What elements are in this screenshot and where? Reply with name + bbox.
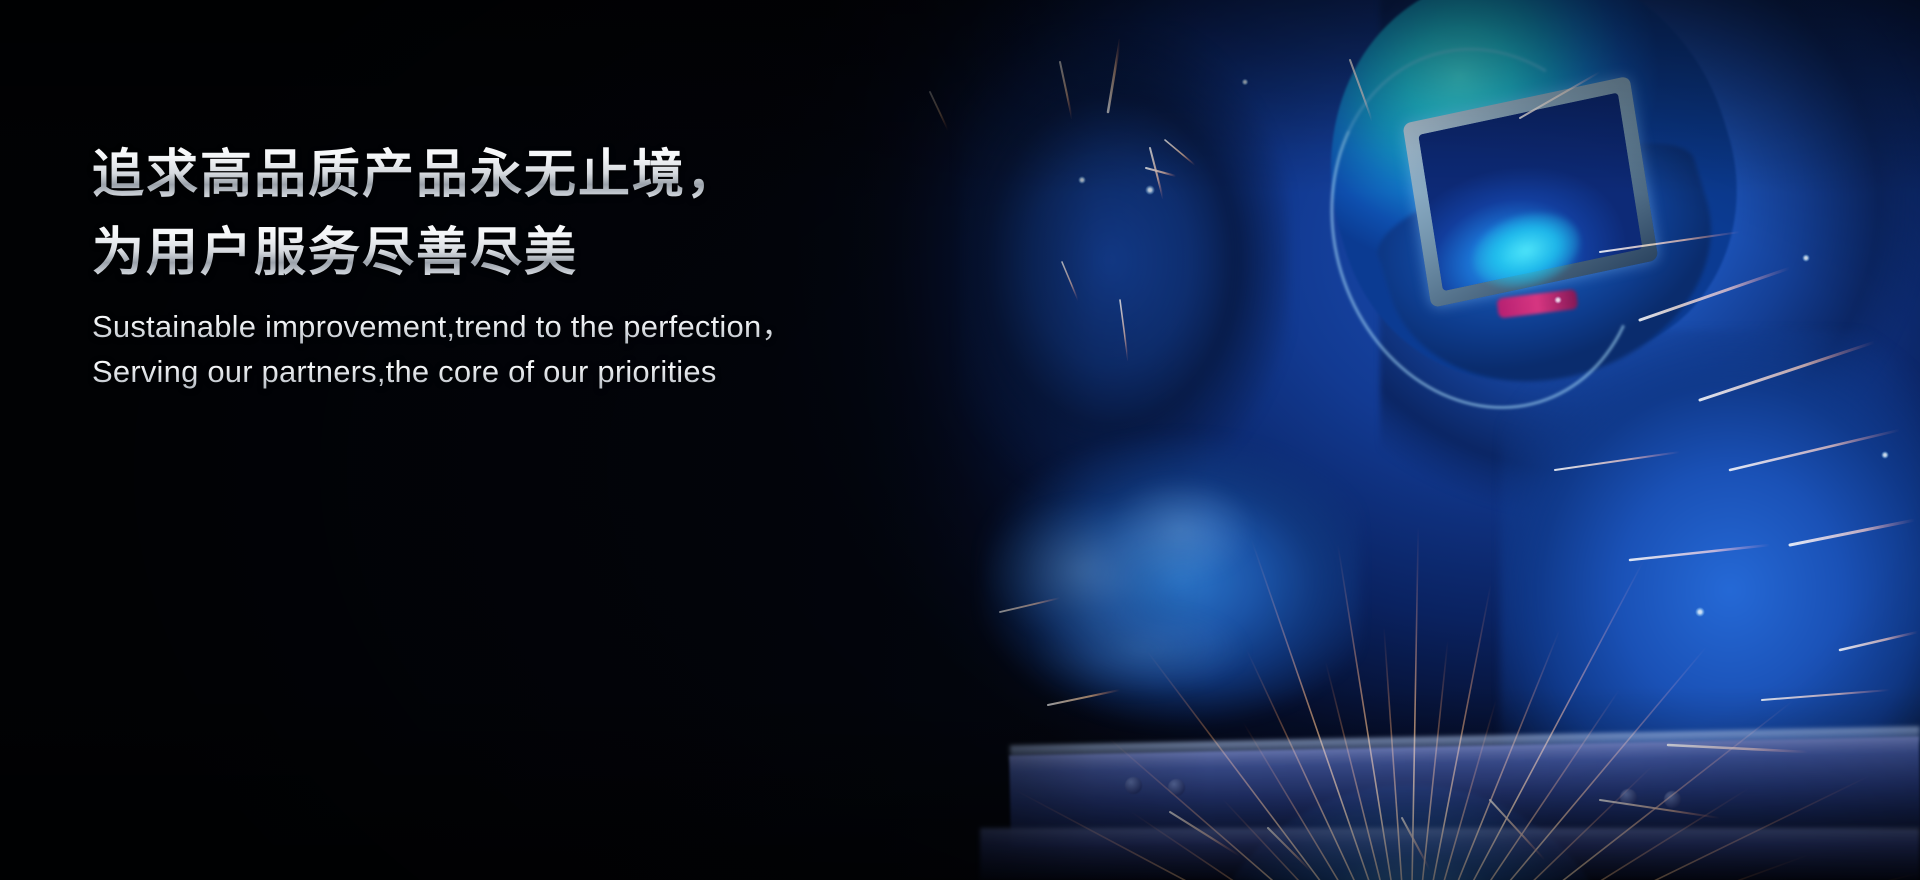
headline-chinese-line-1: 追求高品质产品永无止境， xyxy=(92,138,972,212)
vignette-overlay xyxy=(0,0,1920,880)
welding-photo xyxy=(0,0,1920,880)
banner-copy: 追求高品质产品永无止境， 为用户服务尽善尽美 Sustainable impro… xyxy=(92,138,972,394)
subheadline-english-line-1: Sustainable improvement,trend to the per… xyxy=(92,304,972,349)
subheadline-english-line-2: Serving our partners,the core of our pri… xyxy=(92,349,972,394)
headline-chinese-line-2: 为用户服务尽善尽美 xyxy=(92,216,972,290)
subheadline-english: Sustainable improvement,trend to the per… xyxy=(92,304,972,394)
hero-banner: 追求高品质产品永无止境， 为用户服务尽善尽美 Sustainable impro… xyxy=(0,0,1920,880)
